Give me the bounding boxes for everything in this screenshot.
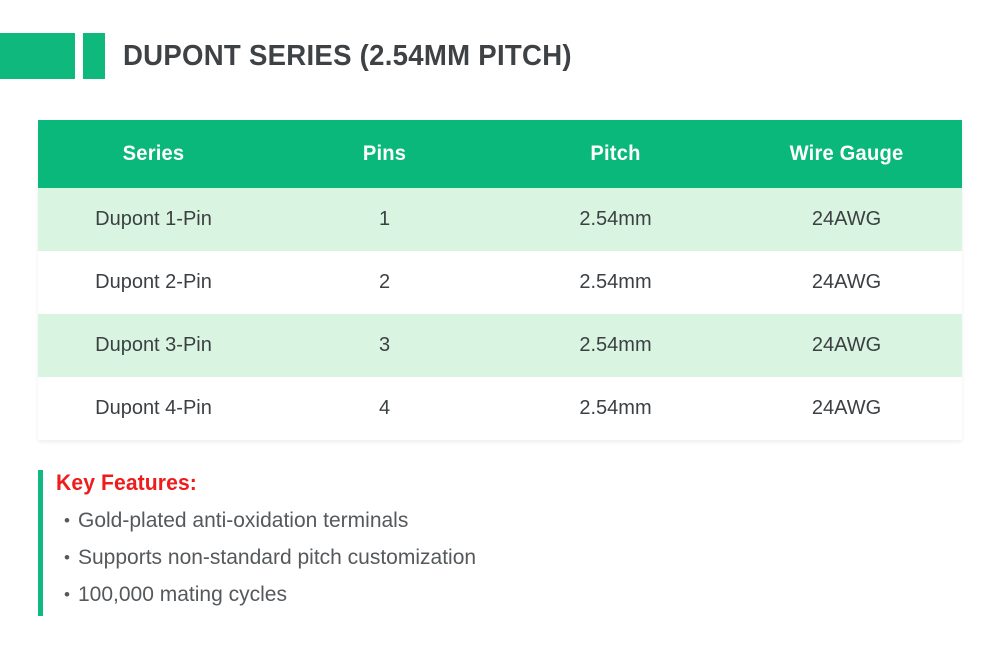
cell-wire-gauge: 24AWG — [731, 188, 962, 251]
cell-pitch: 2.54mm — [500, 188, 731, 251]
table-row: Dupont 2-Pin 2 2.54mm 24AWG — [38, 251, 962, 314]
cell-pins: 4 — [269, 377, 500, 440]
accent-block-gap — [75, 33, 83, 79]
cell-pitch: 2.54mm — [500, 251, 731, 314]
key-features-section: Key Features: • Gold-plated anti-oxidati… — [38, 470, 738, 613]
column-header-series: Series — [43, 120, 265, 188]
accent-block-wide — [0, 33, 75, 79]
accent-block-narrow — [83, 33, 105, 79]
list-item: • 100,000 mating cycles — [56, 576, 738, 613]
table-header-row: Series Pins Pitch Wire Gauge — [38, 120, 962, 188]
features-accent-bar — [38, 470, 43, 616]
cell-wire-gauge: 24AWG — [731, 314, 962, 377]
cell-pitch: 2.54mm — [500, 377, 731, 440]
bullet-icon: • — [64, 576, 78, 613]
cell-pins: 2 — [269, 251, 500, 314]
cell-series: Dupont 1-Pin — [38, 188, 269, 251]
page-title: DUPONT SERIES (2.54MM PITCH) — [123, 40, 572, 73]
cell-pitch: 2.54mm — [500, 314, 731, 377]
cell-pins: 1 — [269, 188, 500, 251]
cell-pins: 3 — [269, 314, 500, 377]
list-item-label: 100,000 mating cycles — [78, 576, 287, 613]
table-row: Dupont 1-Pin 1 2.54mm 24AWG — [38, 188, 962, 251]
title-bar: DUPONT SERIES (2.54MM PITCH) — [0, 33, 595, 79]
table-row: Dupont 4-Pin 4 2.54mm 24AWG — [38, 377, 962, 440]
features-list: • Gold-plated anti-oxidation terminals •… — [56, 502, 738, 613]
cell-series: Dupont 4-Pin — [38, 377, 269, 440]
table-row: Dupont 3-Pin 3 2.54mm 24AWG — [38, 314, 962, 377]
cell-wire-gauge: 24AWG — [731, 377, 962, 440]
spec-table: Series Pins Pitch Wire Gauge Dupont 1-Pi… — [38, 120, 962, 440]
column-header-wire-gauge: Wire Gauge — [736, 120, 958, 188]
cell-series: Dupont 2-Pin — [38, 251, 269, 314]
list-item-label: Gold-plated anti-oxidation terminals — [78, 502, 408, 539]
features-heading: Key Features: — [56, 470, 711, 496]
list-item: • Supports non-standard pitch customizat… — [56, 539, 738, 576]
column-header-pitch: Pitch — [505, 120, 727, 188]
list-item: • Gold-plated anti-oxidation terminals — [56, 502, 738, 539]
column-header-pins: Pins — [274, 120, 496, 188]
cell-series: Dupont 3-Pin — [38, 314, 269, 377]
bullet-icon: • — [64, 502, 78, 539]
cell-wire-gauge: 24AWG — [731, 251, 962, 314]
bullet-icon: • — [64, 539, 78, 576]
list-item-label: Supports non-standard pitch customizatio… — [78, 539, 476, 576]
